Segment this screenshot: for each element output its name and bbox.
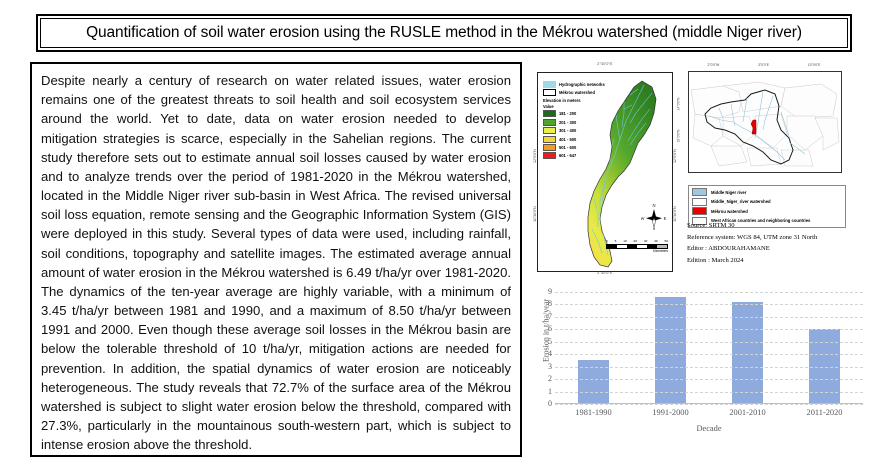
scalebar-segment: [657, 245, 667, 248]
chart-y-tick: 4: [539, 349, 552, 358]
svg-text:E: E: [664, 216, 667, 221]
erosion-bar-chart: Erosion in t/ha/year 0123456789 1981-199…: [527, 288, 872, 458]
inset-coordinate: 10°0'0"E: [808, 63, 821, 67]
chart-bar-slot: [709, 292, 786, 403]
north-arrow-icon: N S W E: [641, 201, 667, 231]
metadata-edition: Edition : March 2024: [687, 257, 862, 264]
svg-text:W: W: [641, 216, 645, 221]
legend-row-watershed: Mékrou watershed: [543, 89, 615, 96]
scalebar-tick: 0: [606, 239, 608, 243]
legend-row-class: 601 - 647: [543, 152, 615, 159]
legend-row-class: 301 - 400: [543, 127, 615, 134]
inset-legend-swatch: [692, 207, 707, 215]
inset-legend-label: Middle Niger river: [711, 190, 746, 195]
map-coordinate-right-2: 11°30'0"N: [673, 197, 677, 231]
chart-gridline: [555, 329, 863, 330]
elevation-class-label: 301 - 400: [559, 128, 576, 133]
metadata-editor: Editor : ABDOURAHAMANE: [687, 245, 862, 252]
chart-bar-slot: [555, 292, 632, 403]
chart-x-tick: 1981-1990: [555, 408, 632, 417]
inset-coordinate: 2°0'0"W: [707, 63, 719, 67]
chart-y-tick: 2: [539, 374, 552, 383]
legend-label-watershed: Mékrou watershed: [559, 90, 595, 95]
scalebar-bar: [606, 244, 668, 249]
map-frame: Hydrographic networks Mékrou watershed E…: [537, 72, 673, 272]
elevation-class-label: 201 - 300: [559, 120, 576, 125]
scalebar-tick: 5: [615, 239, 617, 243]
legend-header-elevation: Elevation in meters: [543, 98, 615, 103]
map-legend: Hydrographic networks Mékrou watershed E…: [543, 81, 615, 161]
scalebar-tick: 30: [644, 239, 647, 243]
scalebar-segment: [637, 245, 647, 248]
inset-legend-label: Mékrou watershed: [711, 209, 748, 214]
abstract-box: Despite nearly a century of research on …: [30, 62, 522, 457]
legend-row-class: 181 - 200: [543, 110, 615, 117]
scalebar-tick: 40: [654, 239, 657, 243]
chart-x-tick: 1991-2000: [632, 408, 709, 417]
svg-text:N: N: [652, 203, 656, 208]
abstract-text: Despite nearly a century of research on …: [41, 71, 511, 454]
chart-gridline: [555, 379, 863, 380]
poster-title-box: Quantification of soil water erosion usi…: [36, 14, 852, 52]
elevation-swatch: [543, 110, 556, 117]
chart-y-tick: 1: [539, 387, 552, 396]
locator-map-frame: [688, 71, 842, 173]
inset-legend-row: Middle_Niger_river watershed: [692, 198, 842, 206]
inset-coordinate-left-2: 10°0'0"N: [676, 130, 680, 143]
legend-label-hydrographic: Hydrographic networks: [559, 82, 605, 87]
chart-x-axis-label: Decade: [555, 424, 863, 433]
legend-row-class: 201 - 300: [543, 119, 615, 126]
chart-y-tick: 5: [539, 337, 552, 346]
legend-row-hydrographic: Hydrographic networks: [543, 81, 615, 88]
chart-gridline: [555, 317, 863, 318]
poster-root: Quantification of soil water erosion usi…: [0, 0, 890, 471]
map-metadata: Source: SRTM 30 Reference system: WGS 84…: [687, 222, 862, 268]
inset-legend-row: Mékrou watershed: [692, 207, 842, 215]
elevation-class-label: 181 - 200: [559, 111, 576, 116]
elevation-class-label: 501 - 600: [559, 145, 576, 150]
locator-map-panel: 2°0'0"W 3°0'0"E 10°0'0"E 14°0'0"N 10°0'0…: [680, 62, 860, 187]
inset-coordinate-left: 14°0'0"N: [676, 98, 680, 111]
chart-gridline: [555, 367, 863, 368]
page-title: Quantification of soil water erosion usi…: [86, 24, 802, 42]
map-coordinate-right: 12°0'0"N: [673, 139, 677, 173]
map-coordinate-top: 2°30'0"E: [531, 62, 679, 66]
metadata-source: Source: SRTM 30: [687, 222, 862, 229]
scalebar-tick: 20: [634, 239, 637, 243]
legend-row-class: 401 - 500: [543, 136, 615, 143]
chart-y-tick: 0: [539, 399, 552, 408]
scalebar-unit-label: Kilometers: [606, 249, 668, 253]
elevation-swatch: [543, 127, 556, 134]
scalebar-segment: [607, 245, 617, 248]
scalebar-tick: 50: [665, 239, 668, 243]
chart-gridline: [555, 354, 863, 355]
chart-bars: [555, 292, 863, 403]
inset-legend-swatch: [692, 198, 707, 206]
scalebar-tick: 10: [623, 239, 626, 243]
chart-bar-slot: [786, 292, 863, 403]
chart-y-tick: 9: [539, 287, 552, 296]
west-africa-map: [689, 72, 841, 172]
metadata-reference-system: Reference system: WGS 84, UTM zone 31 No…: [687, 234, 862, 241]
inset-legend-swatch: [692, 188, 707, 196]
scalebar-segment: [627, 245, 637, 248]
map-scalebar: 0 5 10 20 30 40 50 Kilometers: [606, 239, 668, 253]
watershed-swatch: [543, 89, 556, 96]
chart-plot-area: 0123456789: [555, 292, 863, 404]
chart-y-tick: 8: [539, 299, 552, 308]
chart-bar-slot: [632, 292, 709, 403]
chart-x-tick-labels: 1981-19901991-20002001-20102011-2020: [555, 408, 863, 417]
scalebar-segment: [617, 245, 627, 248]
chart-gridline: [555, 404, 863, 405]
legend-header-value: Value: [543, 104, 615, 109]
scalebar-ticks: 0 5 10 20 30 40 50: [606, 239, 668, 243]
hydrographic-swatch: [543, 81, 556, 88]
chart-bar: [655, 297, 686, 403]
chart-y-tick: 6: [539, 324, 552, 333]
inset-coordinates-top: 2°0'0"W 3°0'0"E 10°0'0"E: [688, 63, 840, 67]
elevation-swatch: [543, 152, 556, 159]
scalebar-segment: [647, 245, 657, 248]
inset-coordinate: 3°0'0"E: [758, 63, 769, 67]
elevation-class-label: 601 - 647: [559, 153, 576, 158]
inset-legend-label: Middle_Niger_river watershed: [711, 199, 771, 204]
chart-gridline: [555, 292, 863, 293]
watershed-map-panel: 2°30'0"E 2°30'0"E 12°0'0"N 11°30'0"N 12°…: [531, 62, 679, 282]
chart-x-tick: 2011-2020: [786, 408, 863, 417]
inset-legend-row: Middle Niger river: [692, 188, 842, 196]
chart-gridline: [555, 392, 863, 393]
legend-row-class: 501 - 600: [543, 144, 615, 151]
elevation-class-label: 401 - 500: [559, 137, 576, 142]
elevation-swatch: [543, 136, 556, 143]
chart-y-tick: 3: [539, 362, 552, 371]
chart-x-tick: 2001-2010: [709, 408, 786, 417]
chart-gridline: [555, 304, 863, 305]
chart-y-tick: 7: [539, 312, 552, 321]
elevation-swatch: [543, 119, 556, 126]
elevation-swatch: [543, 144, 556, 151]
chart-gridline: [555, 342, 863, 343]
